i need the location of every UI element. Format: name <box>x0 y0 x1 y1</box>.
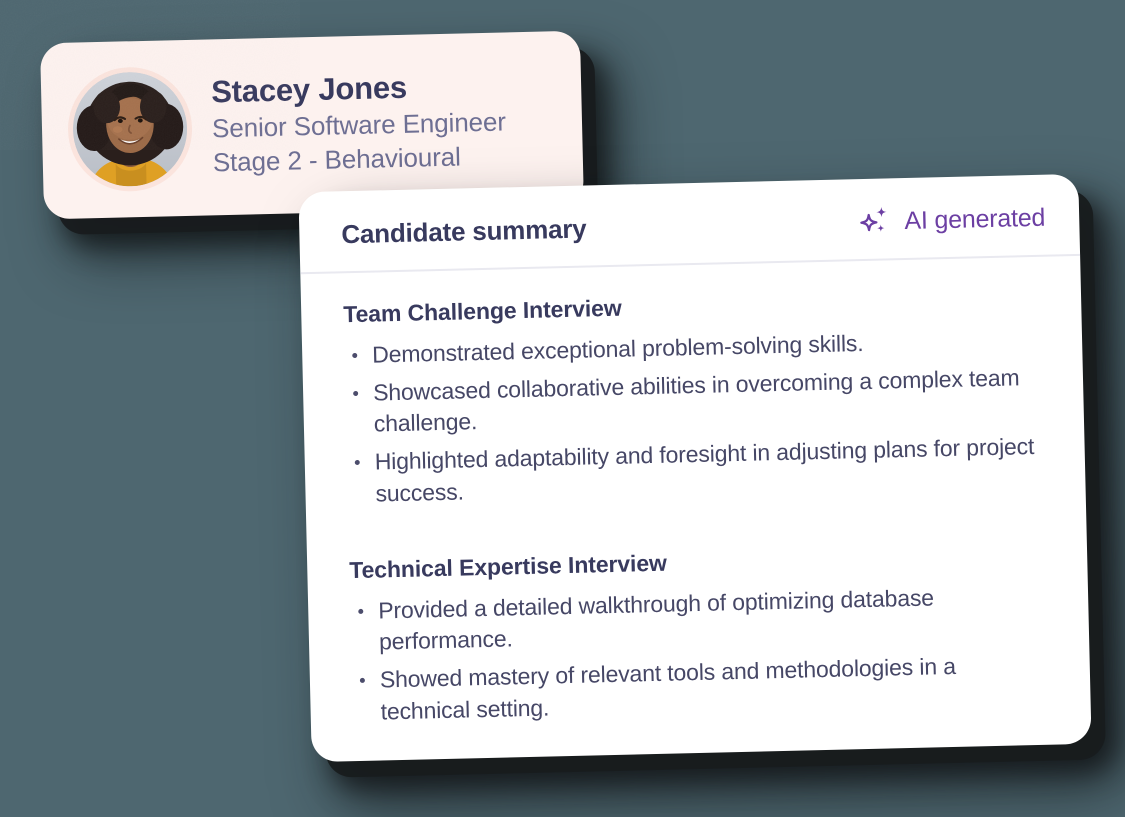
bullet-dot-icon <box>358 609 363 614</box>
ai-generated-badge[interactable]: AI generated <box>857 201 1046 239</box>
section-title: Technical Expertise Interview <box>349 540 1047 583</box>
list-item: Showcased collaborative abilities in ove… <box>345 362 1044 442</box>
candidate-summary-card[interactable]: Candidate summary AI generated Team Chal… <box>298 174 1091 762</box>
sparkle-icon <box>857 204 892 239</box>
section-bullet-list: Demonstrated exceptional problem-solving… <box>344 324 1046 511</box>
list-item: Provided a detailed walkthrough of optim… <box>350 579 1049 659</box>
avatar-ring <box>67 66 194 193</box>
summary-body: Team Challenge Interview Demonstrated ex… <box>300 256 1091 730</box>
list-item-text: Showcased collaborative abilities in ove… <box>373 364 1020 437</box>
candidate-role: Senior Software Engineer <box>212 108 506 141</box>
candidate-details: Stacey Jones Senior Software Engineer St… <box>211 69 507 179</box>
list-item-text: Highlighted adaptability and foresight i… <box>374 433 1034 506</box>
bullet-dot-icon <box>355 460 360 465</box>
bullet-dot-icon <box>353 391 358 396</box>
page-title: Candidate summary <box>341 213 587 250</box>
list-item-text: Showed mastery of relevant tools and met… <box>380 653 956 724</box>
bullet-dot-icon <box>360 678 365 683</box>
list-item-text: Demonstrated exceptional problem-solving… <box>372 330 864 368</box>
screenshot-stage: Stacey Jones Senior Software Engineer St… <box>0 0 1125 817</box>
section-title: Team Challenge Interview <box>343 285 1041 328</box>
list-item: Highlighted adaptability and foresight i… <box>346 431 1045 511</box>
summary-section: Technical Expertise Interview Provided a… <box>349 540 1051 728</box>
bullet-dot-icon <box>352 353 357 358</box>
ai-generated-label: AI generated <box>904 203 1045 235</box>
list-item-text: Provided a detailed walkthrough of optim… <box>378 584 934 655</box>
section-bullet-list: Provided a detailed walkthrough of optim… <box>350 579 1051 728</box>
avatar-photo <box>72 71 189 188</box>
summary-section: Team Challenge Interview Demonstrated ex… <box>343 285 1046 511</box>
candidate-stage: Stage 2 - Behavioural <box>213 142 507 175</box>
candidate-name: Stacey Jones <box>211 69 506 107</box>
list-item: Showed mastery of relevant tools and met… <box>352 649 1051 729</box>
avatar <box>72 71 189 188</box>
